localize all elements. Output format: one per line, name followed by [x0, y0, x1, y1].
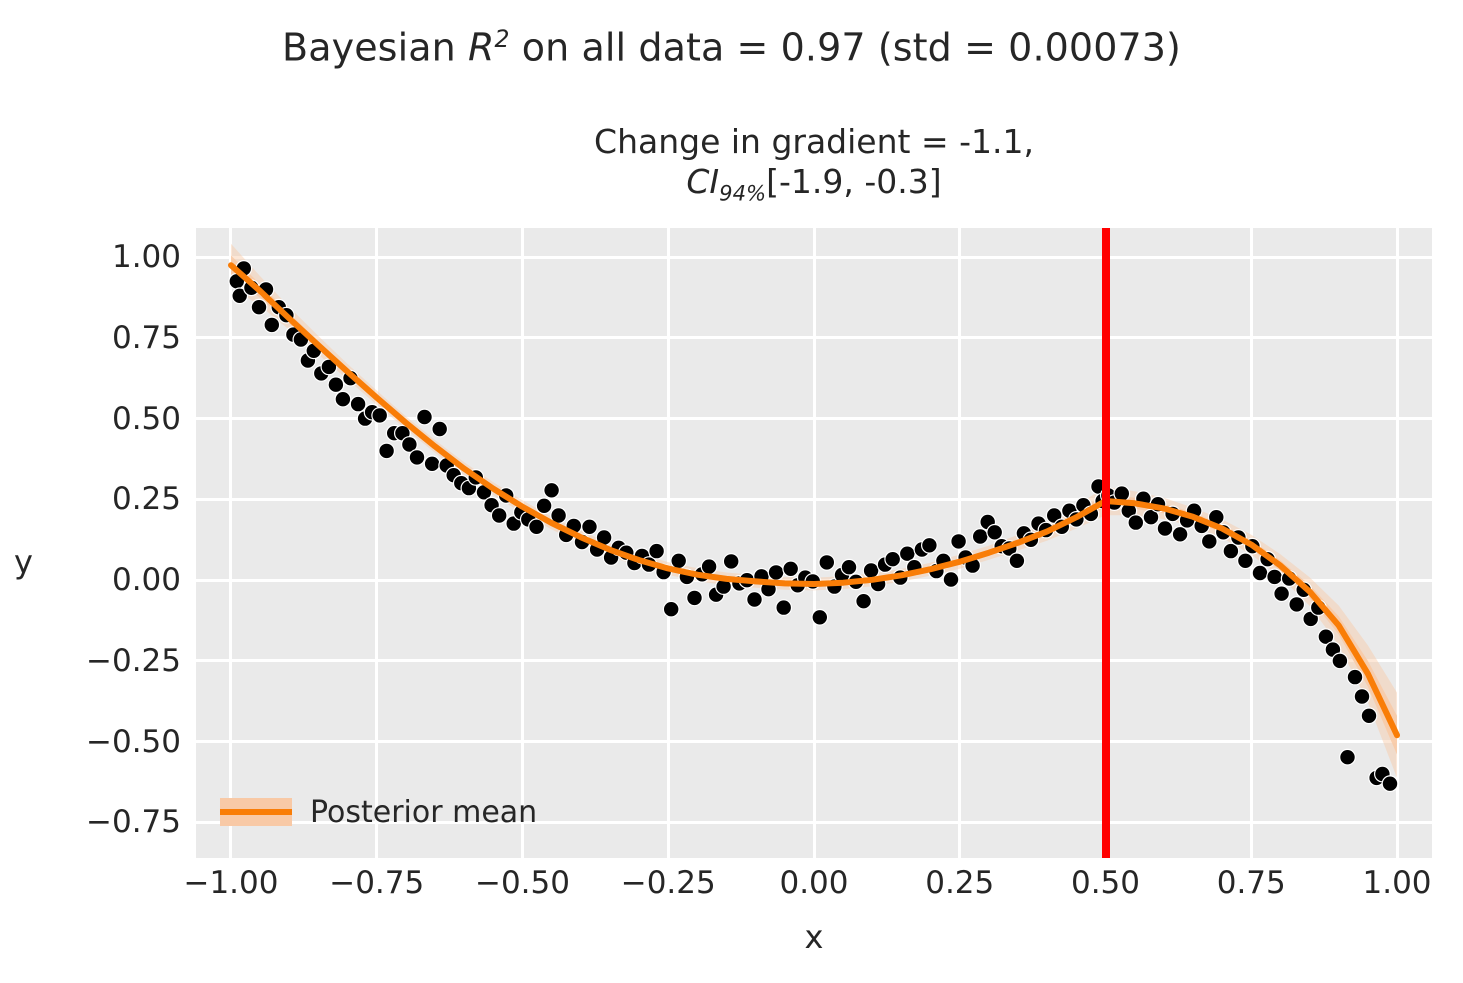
scatter-point [1252, 565, 1268, 581]
scatter-point [1289, 597, 1305, 613]
scatter-point [747, 592, 763, 608]
scatter-point [671, 553, 687, 569]
scatter-point [1157, 521, 1173, 537]
scatter-point [856, 593, 872, 609]
scatter-point [943, 572, 959, 588]
axes-title-line1: Change in gradient = -1.1, [196, 122, 1432, 162]
scatter-point [491, 508, 507, 524]
scatter-point [529, 519, 545, 535]
chart-legend[interactable]: Posterior mean [206, 782, 551, 842]
posterior-mean-line [231, 265, 1397, 735]
scatter-point [1009, 553, 1025, 569]
scatter-point [536, 498, 552, 514]
scatter-point [783, 561, 799, 577]
scatter-point [1354, 689, 1370, 705]
suptitle-exponent: 2 [495, 25, 510, 53]
scatter-point [424, 456, 440, 472]
y-tick-label: −0.25 [41, 646, 181, 677]
plot-area [196, 228, 1432, 858]
scatter-point [417, 409, 433, 425]
scatter-point [701, 559, 717, 575]
posterior-band-outer [231, 244, 1397, 778]
scatter-point [1332, 653, 1348, 669]
y-tick-label: −0.50 [41, 727, 181, 758]
scatter-point [841, 559, 857, 575]
scatter-point [1340, 749, 1356, 765]
ci-interval: [-1.9, -0.3] [766, 162, 942, 201]
y-tick-label: 1.00 [41, 242, 181, 273]
scatter-point [335, 391, 351, 407]
scatter-point [687, 590, 703, 606]
y-tick-label: −0.75 [41, 807, 181, 838]
scatter-point [350, 396, 366, 412]
scatter-point [372, 408, 388, 424]
plot-svg [196, 228, 1432, 858]
changepoint-vline [1102, 228, 1110, 858]
figure-canvas: Bayesian R2 on all data = 0.97 (std = 0.… [0, 0, 1463, 983]
scatter-point [922, 538, 938, 554]
suptitle-symbol: R [468, 26, 495, 70]
ci-symbol: CI [686, 162, 719, 201]
scatter-point [409, 450, 425, 466]
y-tick-label: 0.50 [41, 404, 181, 435]
scatter-point [328, 377, 344, 393]
scatter-point [251, 299, 267, 315]
suptitle-prefix: Bayesian [282, 26, 468, 70]
scatter-point [1172, 527, 1188, 543]
y-tick-label: 0.75 [41, 323, 181, 354]
x-tick-label: 1.00 [1307, 868, 1463, 899]
scatter-point [776, 600, 792, 616]
scatter-point [723, 554, 739, 570]
scatter-point [1238, 553, 1254, 569]
scatter-point [1382, 776, 1398, 792]
y-axis-label: y [14, 543, 33, 581]
scatter-point [768, 565, 784, 581]
scatter-point [1128, 515, 1144, 531]
axes-title: Change in gradient = -1.1, CI94%[-1.9, -… [196, 122, 1432, 214]
scatter-point [1274, 586, 1290, 602]
x-axis-label: x [196, 918, 1432, 956]
suptitle-suffix: on all data = 0.97 (std = 0.00073) [510, 26, 1181, 70]
scatter-point [663, 601, 679, 617]
scatter-point [582, 519, 598, 535]
scatter-point [1347, 669, 1363, 685]
legend-swatch-posterior-mean [220, 798, 292, 826]
legend-line [220, 809, 292, 815]
ci-level: 94% [719, 181, 766, 206]
posterior-band [231, 256, 1397, 755]
scatter-point [987, 525, 1003, 541]
scatter-point [1267, 569, 1283, 585]
y-tick-label: 0.25 [41, 484, 181, 515]
scatter-point [264, 317, 280, 333]
scatter-point [812, 610, 828, 626]
scatter-point [379, 443, 395, 459]
figure-suptitle: Bayesian R2 on all data = 0.97 (std = 0.… [0, 16, 1463, 71]
scatter-point [885, 551, 901, 567]
scatter-point [951, 534, 967, 550]
scatter-point [1361, 708, 1377, 724]
y-tick-label: 0.00 [41, 565, 181, 596]
axes-title-line2: CI94%[-1.9, -0.3] [196, 162, 1432, 214]
scatter-point [544, 483, 560, 499]
scatter-point [649, 543, 665, 559]
scatter-point [432, 421, 448, 437]
scatter-point [819, 555, 835, 571]
scatter-point [1202, 534, 1218, 550]
scatter-point [972, 529, 988, 545]
legend-label-posterior-mean: Posterior mean [310, 795, 537, 830]
